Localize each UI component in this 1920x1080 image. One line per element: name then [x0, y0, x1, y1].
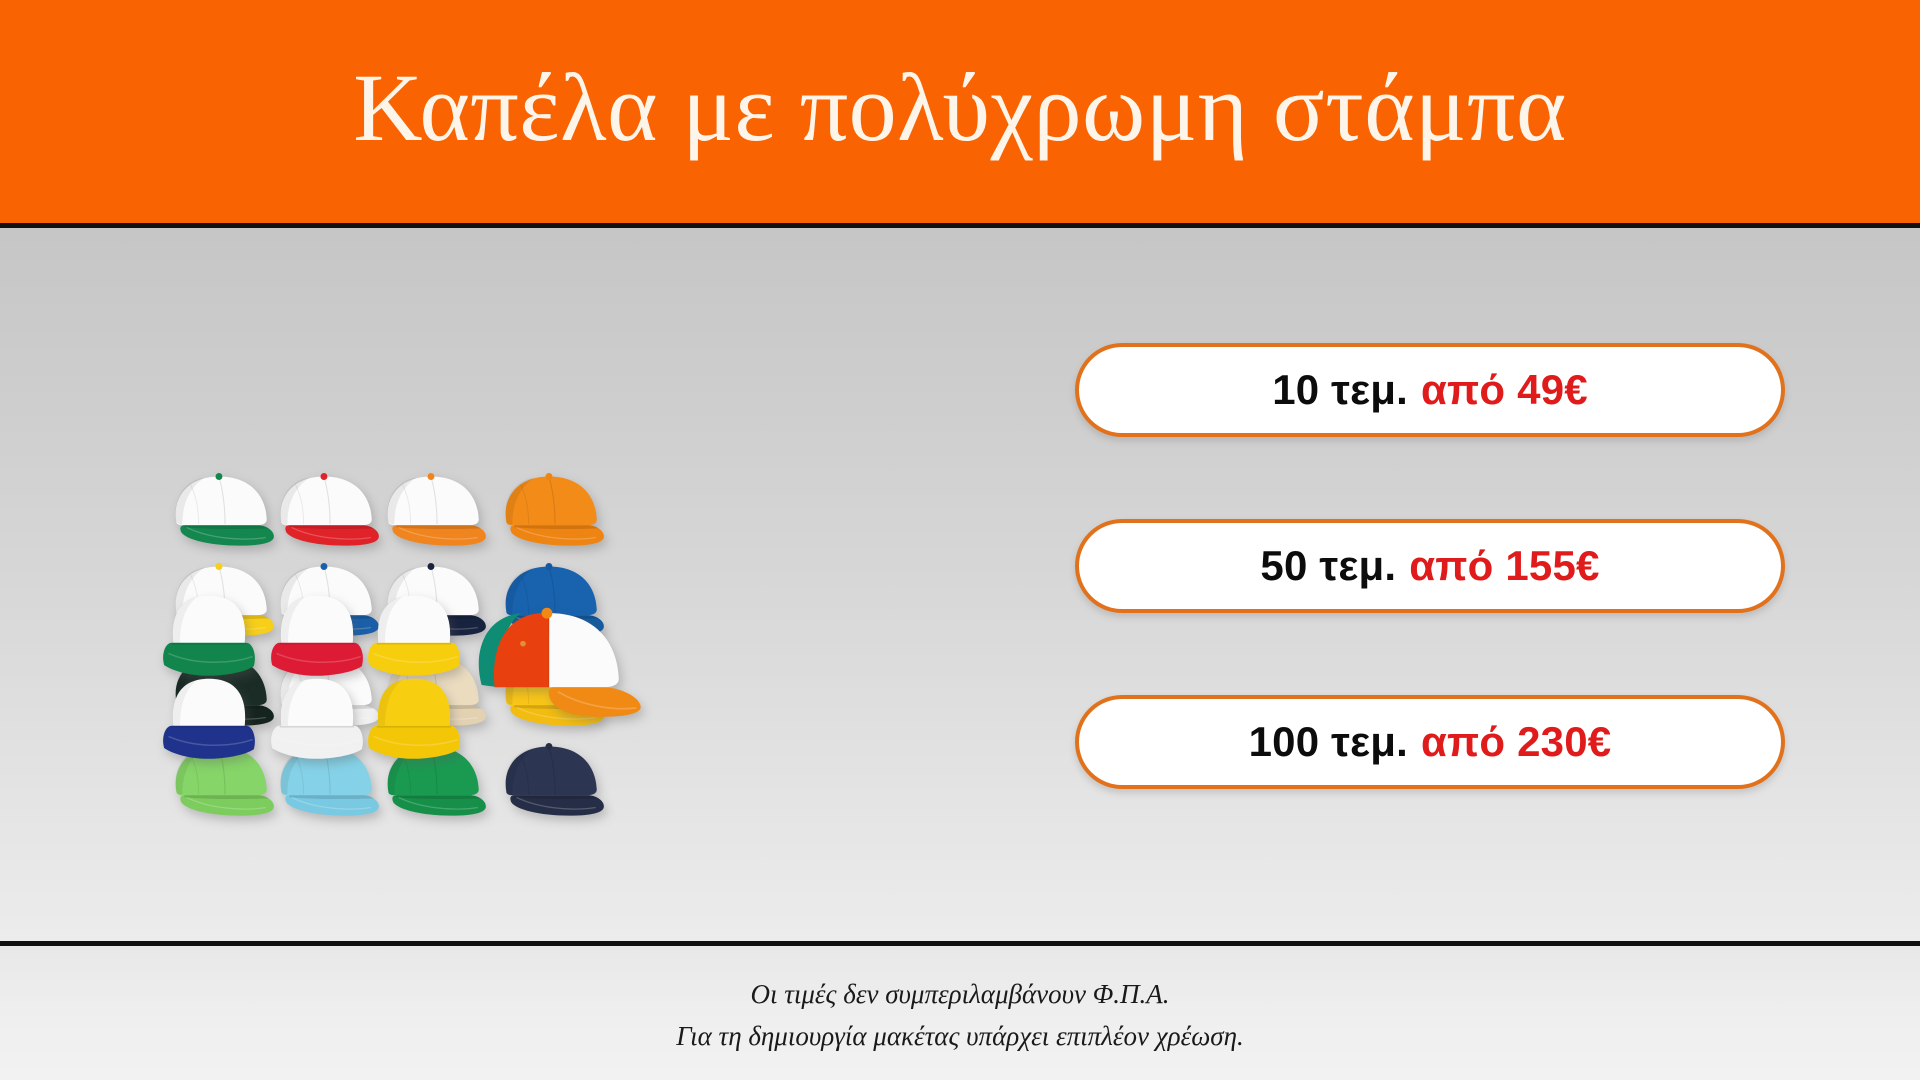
bucket-white-navy [150, 666, 268, 762]
bucket-white-yellow [355, 583, 473, 679]
price-button-50-quantity: 50 τεμ. [1260, 542, 1396, 590]
footer-line-design: Για τη δημιουργία μακέτας υπάρχει επιπλέ… [676, 1015, 1243, 1057]
price-button-100-quantity: 100 τεμ. [1249, 718, 1408, 766]
price-button-100-text: 100 τεμ. από 230€ [1249, 718, 1612, 766]
cap-multicolor-large [462, 600, 658, 720]
product-image-hats [150, 228, 810, 941]
cap-orange-solid [490, 466, 612, 548]
cap-white-green-brim [160, 466, 282, 548]
slide-root: Καπέλα με πολύχρωμη στάμπα 10 τεμ. από 4… [0, 0, 1920, 1080]
cap-navy-solid [490, 736, 612, 818]
price-button-10[interactable]: 10 τεμ. από 49€ [1075, 343, 1785, 437]
footer-note: Οι τιμές δεν συμπεριλαμβάνουν Φ.Π.Α. Για… [0, 946, 1920, 1080]
price-button-100[interactable]: 100 τεμ. από 230€ [1075, 695, 1785, 789]
bucket-yellow-solid [355, 666, 473, 762]
footer-line-vat: Οι τιμές δεν συμπεριλαμβάνουν Φ.Π.Α. [750, 973, 1169, 1015]
price-button-50-text: 50 τεμ. από 155€ [1260, 542, 1599, 590]
price-button-50[interactable]: 50 τεμ. από 155€ [1075, 519, 1785, 613]
content-area: 10 τεμ. από 49€ 50 τεμ. από 155€ 100 τεμ… [0, 228, 1920, 941]
page-title: Καπέλα με πολύχρωμη στάμπα [353, 58, 1567, 165]
price-list: 10 τεμ. από 49€ 50 τεμ. από 155€ 100 τεμ… [1075, 343, 1785, 789]
header-banner: Καπέλα με πολύχρωμη στάμπα [0, 0, 1920, 223]
bucket-white-green [150, 583, 268, 679]
cap-white-orange-brim [372, 466, 494, 548]
price-button-50-price: από 155€ [1409, 542, 1599, 590]
price-button-100-price: από 230€ [1421, 718, 1611, 766]
price-button-10-text: 10 τεμ. από 49€ [1272, 366, 1588, 414]
price-button-10-price: από 49€ [1421, 366, 1588, 414]
price-button-10-quantity: 10 τεμ. [1272, 366, 1408, 414]
cap-white-red-brim [265, 466, 387, 548]
